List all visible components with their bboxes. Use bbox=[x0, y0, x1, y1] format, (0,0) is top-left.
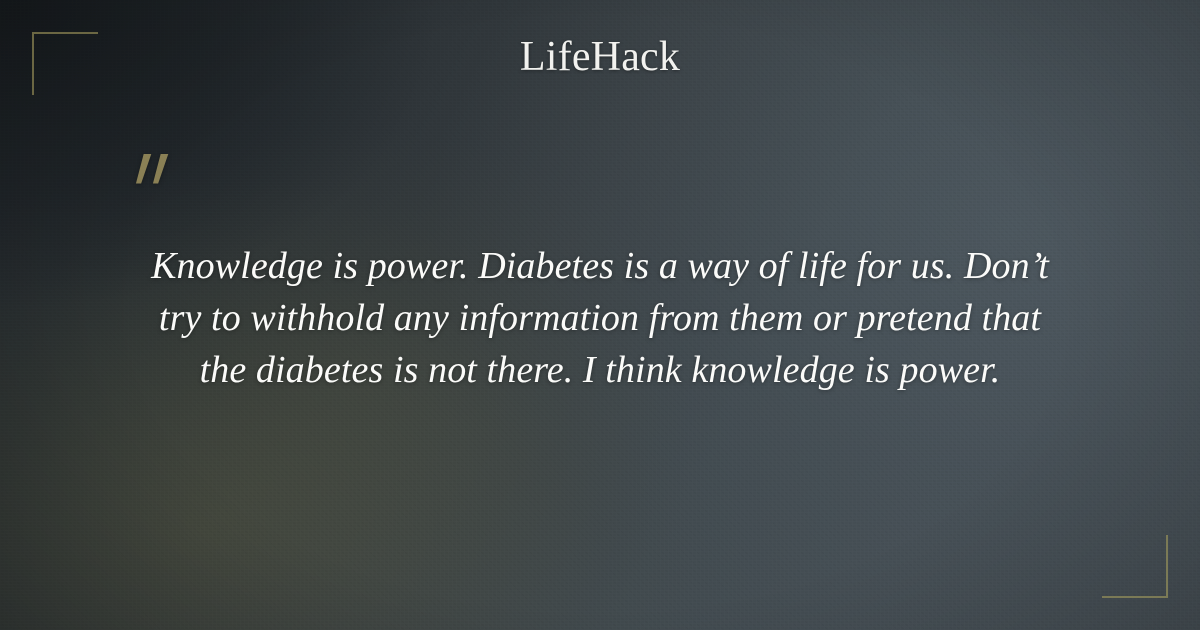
brand-logo: LifeHack bbox=[0, 36, 1200, 78]
brand-name-text: LifeHack bbox=[520, 36, 680, 78]
quote-line: try to withhold any information from the… bbox=[90, 292, 1110, 344]
quotation-mark-icon bbox=[128, 142, 198, 212]
quote-line: Knowledge is power. Diabetes is a way of… bbox=[90, 240, 1110, 292]
corner-bracket-bottom-right-icon bbox=[1102, 535, 1168, 598]
quote-text-block: Knowledge is power. Diabetes is a way of… bbox=[90, 240, 1110, 396]
quote-line: the diabetes is not there. I think knowl… bbox=[90, 344, 1110, 396]
quote-card: LifeHack Knowledge is power. Diabetes is… bbox=[0, 0, 1200, 630]
